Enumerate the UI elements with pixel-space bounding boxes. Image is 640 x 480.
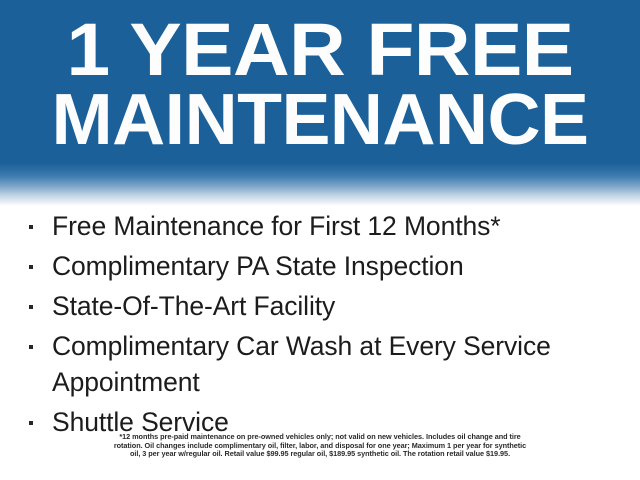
- square-bullet-icon: [29, 345, 33, 349]
- headline-block: 1 YEAR FREE MAINTENANCE: [0, 0, 640, 156]
- benefit-label: Free Maintenance for First 12 Months*: [52, 208, 628, 244]
- list-item: State-Of-The-Art Facility: [0, 288, 640, 324]
- list-item: Free Maintenance for First 12 Months*: [0, 208, 640, 244]
- list-item: Complimentary Car Wash at Every Service …: [0, 328, 640, 400]
- fine-print-disclaimer: *12 months pre-paid maintenance on pre-o…: [0, 433, 640, 459]
- headline-line-1: 1 YEAR FREE: [0, 12, 640, 88]
- benefit-label: State-Of-The-Art Facility: [52, 288, 628, 324]
- benefit-label: Complimentary PA State Inspection: [52, 248, 628, 284]
- square-bullet-icon: [29, 305, 33, 309]
- promo-card: 1 YEAR FREE MAINTENANCE Free Maintenance…: [0, 0, 640, 480]
- benefit-label: Complimentary Car Wash at Every Service …: [52, 328, 572, 400]
- square-bullet-icon: [29, 225, 33, 229]
- benefits-list: Free Maintenance for First 12 Months* Co…: [0, 208, 640, 444]
- headline-line-2: MAINTENANCE: [0, 84, 640, 156]
- header-banner: 1 YEAR FREE MAINTENANCE: [0, 0, 640, 206]
- list-item: Complimentary PA State Inspection: [0, 248, 640, 284]
- square-bullet-icon: [29, 265, 33, 269]
- square-bullet-icon: [29, 421, 33, 425]
- fine-print-line-3: oil, 3 per year w/regular oil. Retail va…: [46, 450, 594, 459]
